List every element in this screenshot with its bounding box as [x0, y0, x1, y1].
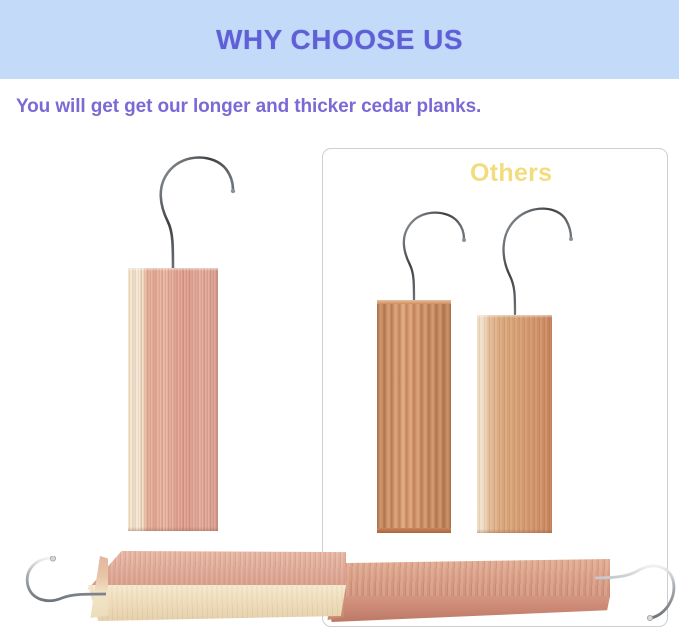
plank-bottom-shadow: [128, 527, 218, 531]
other-flat-plank-top: [326, 559, 610, 601]
our-flat-plank-side: [88, 585, 346, 621]
wood-grain-overlay: [88, 551, 346, 589]
plank-bottom-edge: [377, 528, 451, 533]
others-label: Others: [470, 159, 552, 188]
our-flat-plank-top: [88, 551, 346, 589]
our-cedar-plank: [128, 268, 218, 531]
header-banner: WHY CHOOSE US: [0, 0, 679, 79]
plank-top-highlight: [128, 268, 218, 271]
wood-grain-overlay-2: [128, 268, 218, 531]
promo-image-root: WHY CHOOSE US You will get get our longe…: [0, 0, 679, 635]
wood-grain-overlay: [88, 585, 346, 621]
page-title: WHY CHOOSE US: [216, 24, 463, 56]
plank-bottom-shadow: [477, 529, 552, 533]
subtitle-text: You will get get our longer and thicker …: [16, 96, 481, 118]
wood-grain-overlay: [326, 559, 610, 601]
wood-grain-overlay: [477, 315, 552, 533]
our-hanger-hook-icon: [140, 150, 250, 275]
other-cedar-plank-smooth: [477, 315, 552, 533]
other-cedar-plank-ridged: [377, 300, 451, 533]
plank-top-edge: [377, 300, 451, 304]
ridge-shading: [377, 300, 451, 533]
plank-top-highlight: [477, 315, 552, 318]
